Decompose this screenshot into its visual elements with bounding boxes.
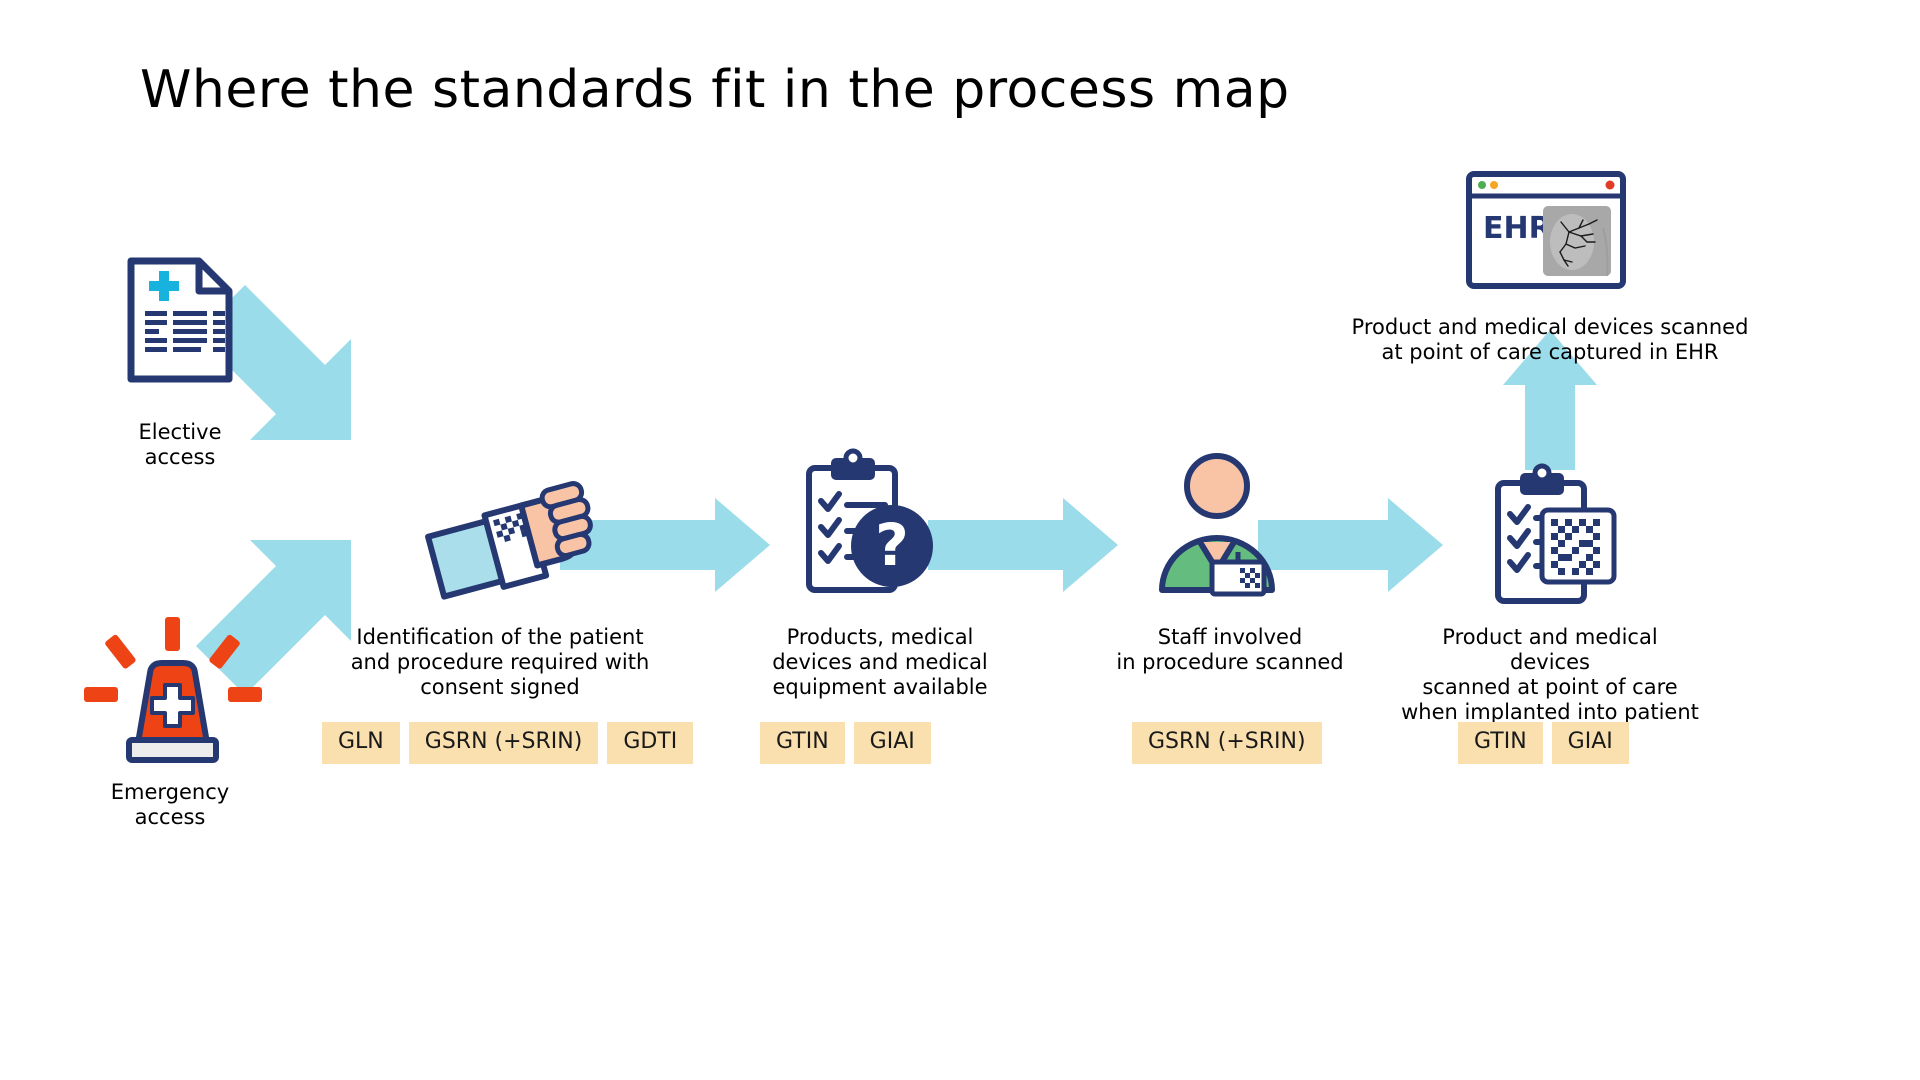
emergency-access-label-line2: access bbox=[70, 805, 270, 830]
ehr-browser-window-icon: EHR bbox=[1465, 170, 1627, 290]
emergency-access-label-line1: Emergency bbox=[70, 780, 270, 805]
step-product-scanned-caption: Product and medical devices scanned at p… bbox=[1400, 625, 1700, 725]
standard-tag-gtin[interactable]: GTIN bbox=[760, 722, 845, 764]
caption-line: at point of care captured in EHR bbox=[1340, 340, 1760, 365]
arrow-step2-to-step3 bbox=[928, 498, 1118, 592]
standard-tag-gdti[interactable]: GDTI bbox=[607, 722, 693, 764]
step-products-available-icon-box: ? bbox=[795, 450, 940, 600]
emergency-access-label: Emergency access bbox=[70, 780, 270, 830]
emergency-access-icon-box bbox=[80, 615, 265, 765]
page-title: Where the standards fit in the process m… bbox=[140, 60, 1290, 120]
ehr-window-label: EHR bbox=[1483, 211, 1552, 246]
ehr-outcome-icon-box: EHR bbox=[1465, 170, 1627, 290]
caption-line: and procedure required with bbox=[350, 650, 650, 675]
caption-line: Staff involved bbox=[1090, 625, 1370, 650]
standard-tag-giai[interactable]: GIAI bbox=[1552, 722, 1629, 764]
step-product-scanned-icon-box bbox=[1490, 465, 1620, 605]
caption-line: consent signed bbox=[350, 675, 650, 700]
staff-badge-barcode-icon bbox=[1152, 450, 1282, 595]
clipboard-datamatrix-icon bbox=[1490, 465, 1620, 605]
hand-wristband-barcode-icon bbox=[425, 475, 600, 600]
step-products-available-caption: Products, medical devices and medical eq… bbox=[740, 625, 1020, 700]
emergency-siren-icon bbox=[80, 615, 265, 765]
step-patient-identification-caption: Identification of the patient and proced… bbox=[350, 625, 650, 700]
caption-line: Product and medical devices bbox=[1400, 625, 1700, 675]
elective-access-icon-box bbox=[125, 255, 235, 385]
elective-access-label-line1: Elective bbox=[90, 420, 270, 445]
standard-tag-gsrn-srin[interactable]: GSRN (+SRIN) bbox=[1132, 722, 1322, 764]
standard-tag-giai[interactable]: GIAI bbox=[854, 722, 931, 764]
caption-line: scanned at point of care bbox=[1400, 675, 1700, 700]
standard-tag-gtin[interactable]: GTIN bbox=[1458, 722, 1543, 764]
arrow-layer bbox=[0, 0, 1920, 1080]
elective-access-label: Elective access bbox=[90, 420, 270, 470]
caption-line: in procedure scanned bbox=[1090, 650, 1370, 675]
standards-tags-patient-identification: GLN GSRN (+SRIN) GDTI bbox=[322, 722, 693, 764]
step-staff-scanned-icon-box bbox=[1152, 450, 1282, 595]
caption-line: Product and medical devices scanned bbox=[1340, 315, 1760, 340]
step-staff-scanned-caption: Staff involved in procedure scanned bbox=[1090, 625, 1370, 675]
medical-document-icon bbox=[125, 255, 235, 385]
caption-line: Identification of the patient bbox=[350, 625, 650, 650]
caption-line: Products, medical bbox=[740, 625, 1020, 650]
standards-tags-staff-scanned: GSRN (+SRIN) bbox=[1132, 722, 1322, 764]
caption-line: equipment available bbox=[740, 675, 1020, 700]
svg-text:?: ? bbox=[875, 511, 909, 579]
standards-tags-product-scanned: GTIN GIAI bbox=[1458, 722, 1629, 764]
step-patient-identification-icon-box bbox=[425, 475, 600, 600]
standard-tag-gsrn-srin[interactable]: GSRN (+SRIN) bbox=[409, 722, 599, 764]
arrow-step3-to-step4 bbox=[1258, 498, 1443, 592]
ehr-outcome-caption: Product and medical devices scanned at p… bbox=[1340, 315, 1760, 365]
standard-tag-gln[interactable]: GLN bbox=[322, 722, 400, 764]
elective-access-label-line2: access bbox=[90, 445, 270, 470]
caption-line: devices and medical bbox=[740, 650, 1020, 675]
standards-tags-products-available: GTIN GIAI bbox=[760, 722, 931, 764]
clipboard-question-icon: ? bbox=[795, 450, 940, 600]
